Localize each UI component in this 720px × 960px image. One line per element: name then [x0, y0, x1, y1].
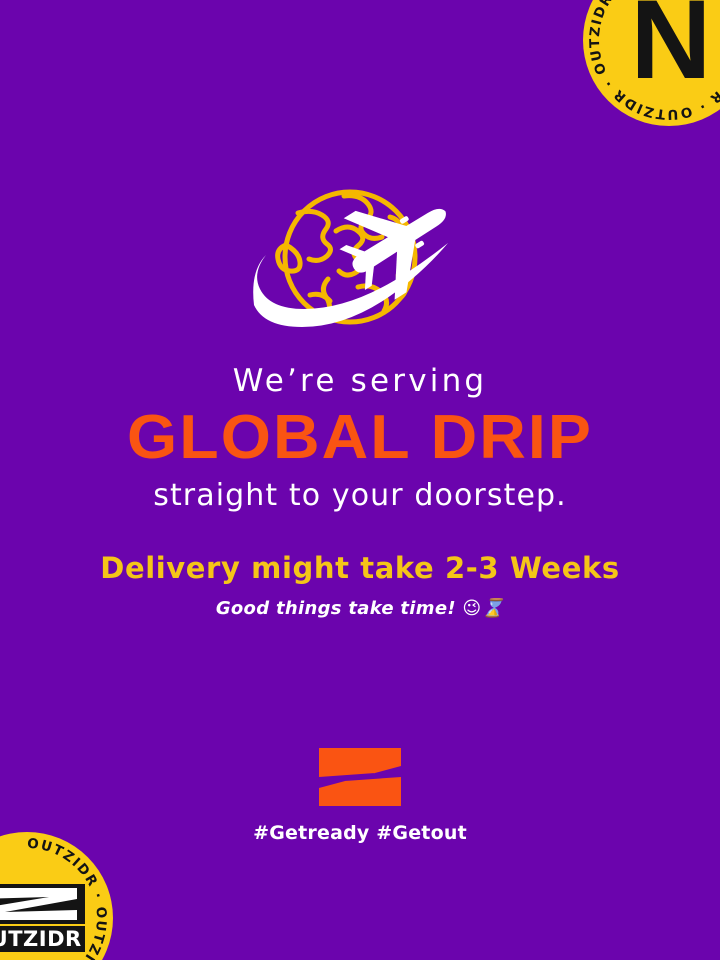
promo-poster: OUTZIDR · OUTZIDR · OUTZIDR · OUTZIDR · …	[0, 0, 720, 960]
badge-z-mark	[0, 884, 85, 924]
tagline-text: Good things take time! 😉⌛	[0, 596, 720, 622]
globe-with-airplane-icon	[240, 183, 480, 343]
headline-text: GLOBAL DRIP	[0, 406, 720, 470]
hero-graphic	[0, 178, 720, 348]
orbit-trail-icon	[253, 243, 448, 327]
subline-text: straight to your doorstep.	[0, 476, 720, 516]
eyebrow-text: We’re serving	[0, 360, 720, 402]
badge-top-right: OUTZIDR · OUTZIDR · OUTZIDR · OUTZIDR · …	[583, 0, 720, 126]
badge-core-bottom-left: OUTZIDR	[0, 884, 85, 952]
outzidr-z-logo	[319, 748, 401, 806]
hashtags-text: #Getready #Getout	[0, 822, 720, 844]
delivery-notice-text: Delivery might take 2-3 Weeks	[0, 550, 720, 586]
badge-bottom-left: OUTZIDR · OUTZIDR · OUTZIDR · OUTZIDR · …	[0, 832, 113, 960]
badge-wordmark-bottom-left: OUTZIDR	[0, 926, 85, 952]
badge-center-letter-top-right: N	[631, 0, 708, 96]
footer-block: #Getready #Getout	[0, 748, 720, 844]
copy-block: We’re serving GLOBAL DRIP straight to yo…	[0, 360, 720, 622]
airplane-icon	[327, 183, 471, 310]
